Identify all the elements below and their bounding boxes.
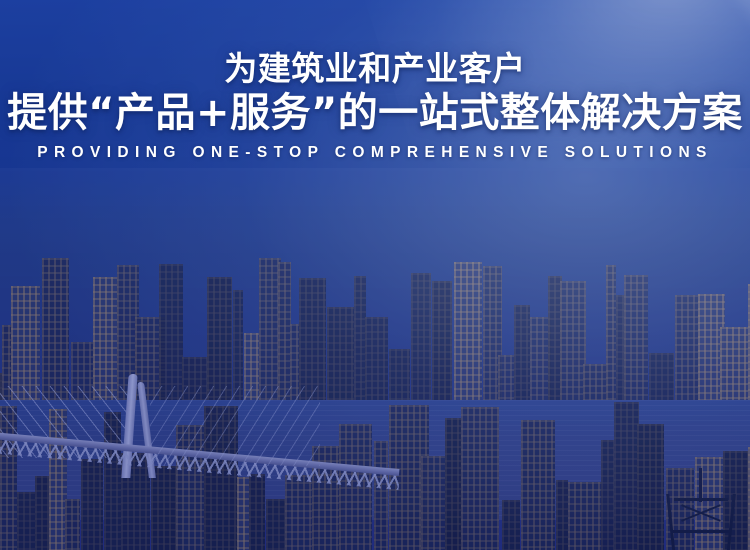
building <box>614 402 640 550</box>
building <box>461 407 499 550</box>
building <box>568 482 602 550</box>
banner-subtitle: PROVIDING ONE-STOP COMPREHENSIVE SOLUTIO… <box>0 144 750 162</box>
atmospheric-haze <box>0 168 750 258</box>
bridge-cables-right <box>150 386 320 466</box>
building <box>237 477 250 550</box>
heading-line-2: 提供“产品+服务”的一站式整体解决方案 <box>0 92 750 134</box>
building <box>521 420 555 550</box>
building <box>556 480 568 550</box>
building <box>445 418 462 550</box>
transmission-tower <box>672 468 730 550</box>
cable-stayed-bridge <box>0 368 400 488</box>
tower-arm-2 <box>672 530 730 533</box>
building <box>502 500 520 550</box>
building <box>421 456 447 550</box>
tower-mast <box>699 468 702 502</box>
banner-copy: 为建筑业和产业客户 提供“产品+服务”的一站式整体解决方案 PROVIDING … <box>0 0 750 162</box>
building <box>65 499 81 550</box>
heading-line-1: 为建筑业和产业客户 <box>0 52 750 87</box>
building <box>601 440 614 550</box>
city-skyline <box>0 168 750 550</box>
building <box>637 424 663 550</box>
building <box>17 492 35 550</box>
hero-banner: 为建筑业和产业客户 提供“产品+服务”的一站式整体解决方案 PROVIDING … <box>0 0 750 550</box>
tower-arm-1 <box>674 498 728 501</box>
